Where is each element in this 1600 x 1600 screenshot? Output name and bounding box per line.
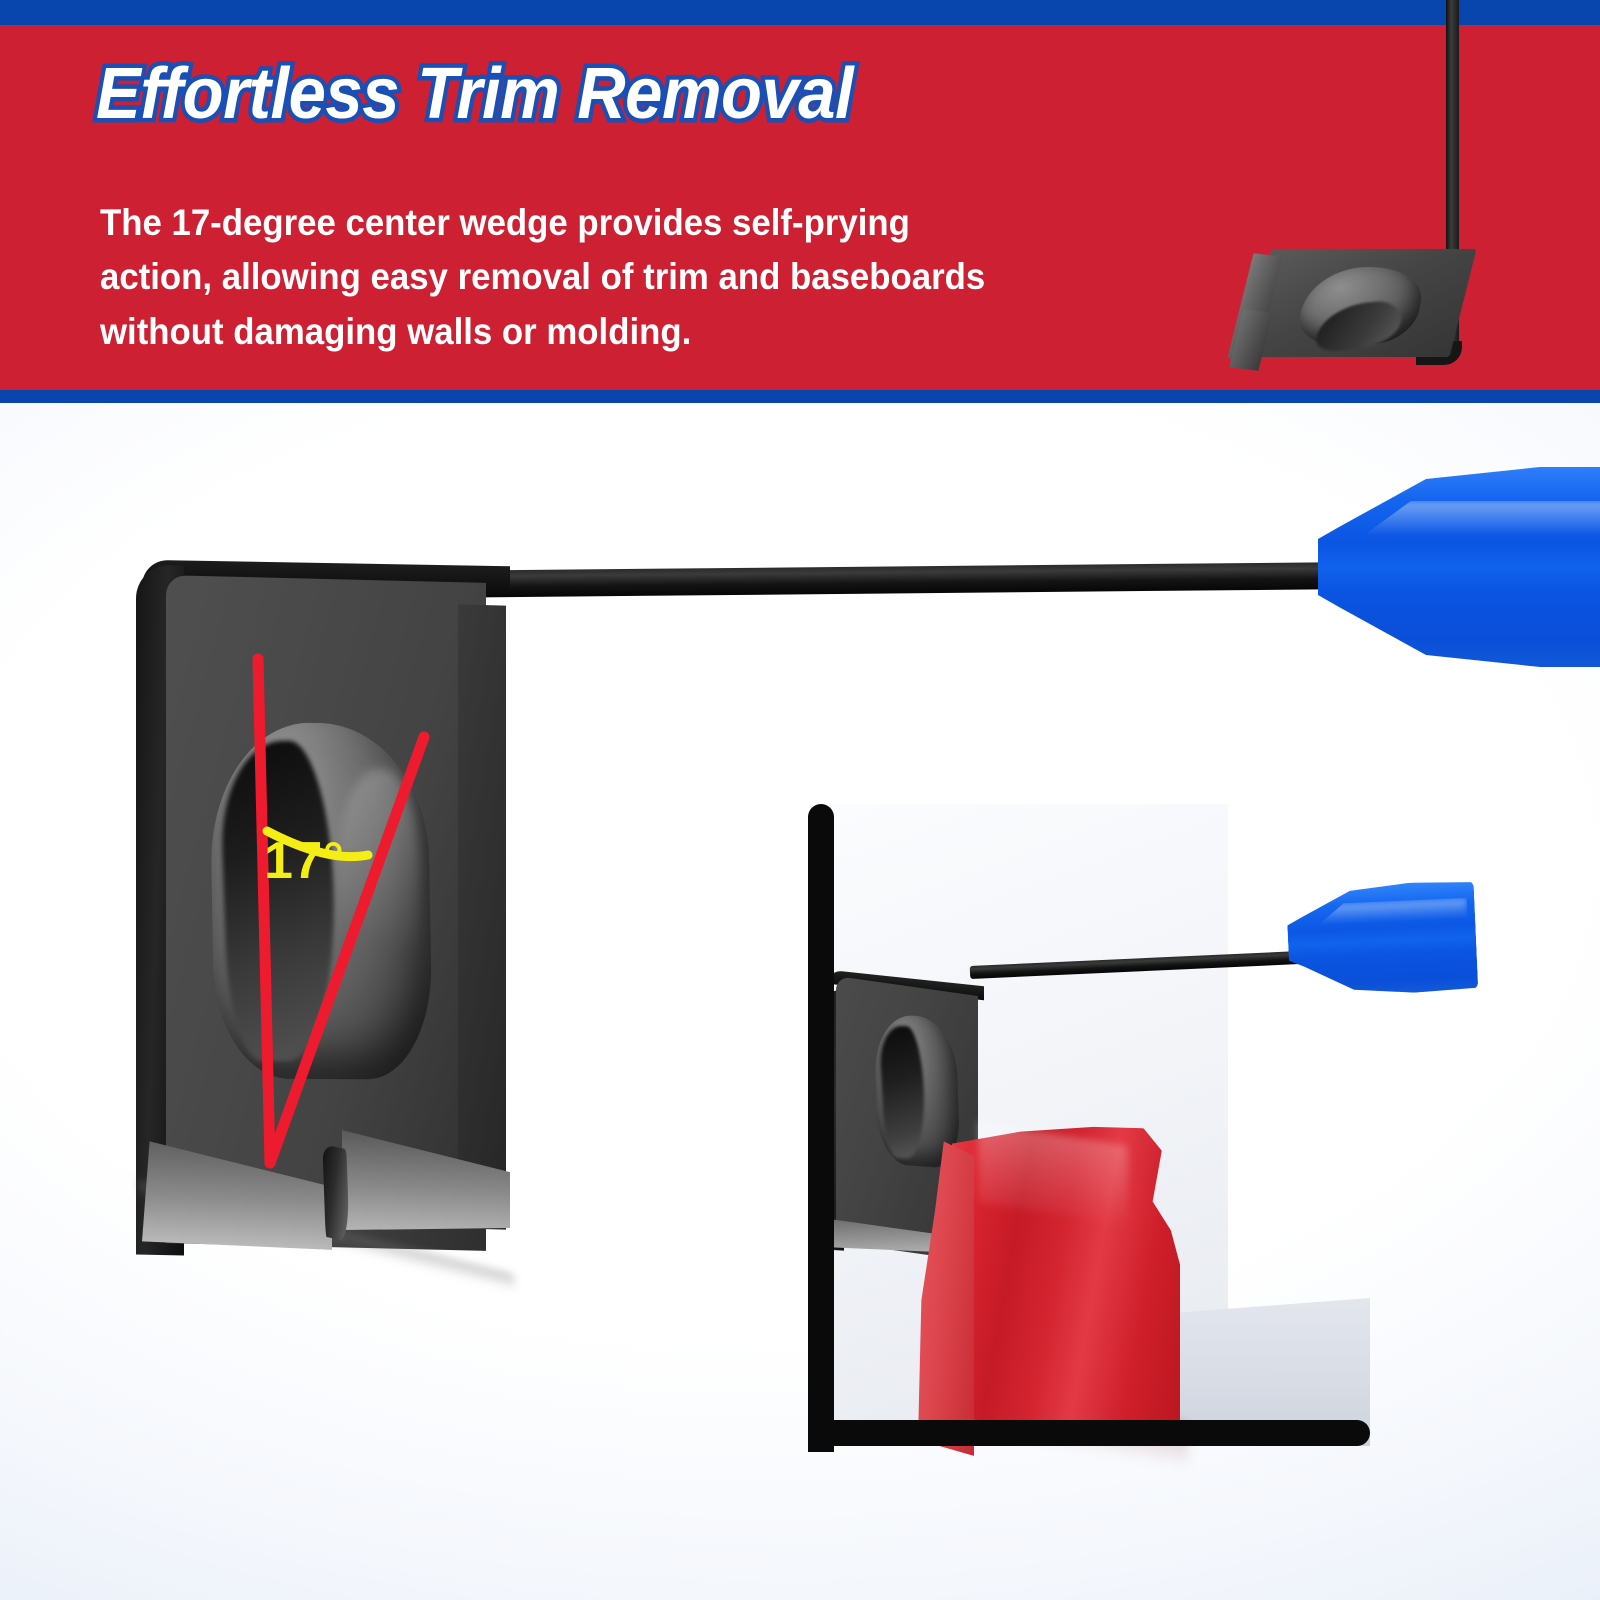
molding-side-face (918, 1134, 974, 1456)
banner-description: The 17-degree center wedge provides self… (100, 196, 1172, 359)
banner-tool-thumbnail (1230, 245, 1480, 375)
product-illustration-stage: 17° (0, 403, 1600, 1600)
hero-handle (1318, 467, 1600, 667)
inset-handle-body (1286, 880, 1479, 998)
usecase-inset-scene (790, 798, 1410, 1498)
angle-annotation (128, 563, 748, 1283)
hero-pry-bar: 17° (128, 563, 748, 1283)
inset-frame-vertical (808, 804, 834, 1452)
description-line-2: action, allowing easy removal of trim an… (100, 250, 1172, 304)
banner-bottom-rule (0, 390, 1600, 403)
inset-handle (1286, 880, 1479, 998)
header-banner: Effortless Trim Removal The 17-degree ce… (0, 0, 1600, 403)
description-line-3: without damaging walls or molding. (100, 305, 1172, 359)
angle-vertical-ray-icon (258, 659, 270, 1163)
page-title: Effortless Trim Removal (96, 58, 853, 130)
angle-value-label: 17° (264, 831, 344, 891)
description-line-1: The 17-degree center wedge provides self… (100, 196, 1172, 250)
banner-top-rule (0, 0, 1600, 25)
angle-slanted-ray-icon (270, 737, 424, 1163)
inset-frame-horizontal (808, 1420, 1370, 1446)
infographic-page: Effortless Trim Removal The 17-degree ce… (0, 0, 1600, 1600)
hero-handle-body (1318, 467, 1600, 667)
inset-red-baseboard-molding (918, 1116, 1180, 1448)
